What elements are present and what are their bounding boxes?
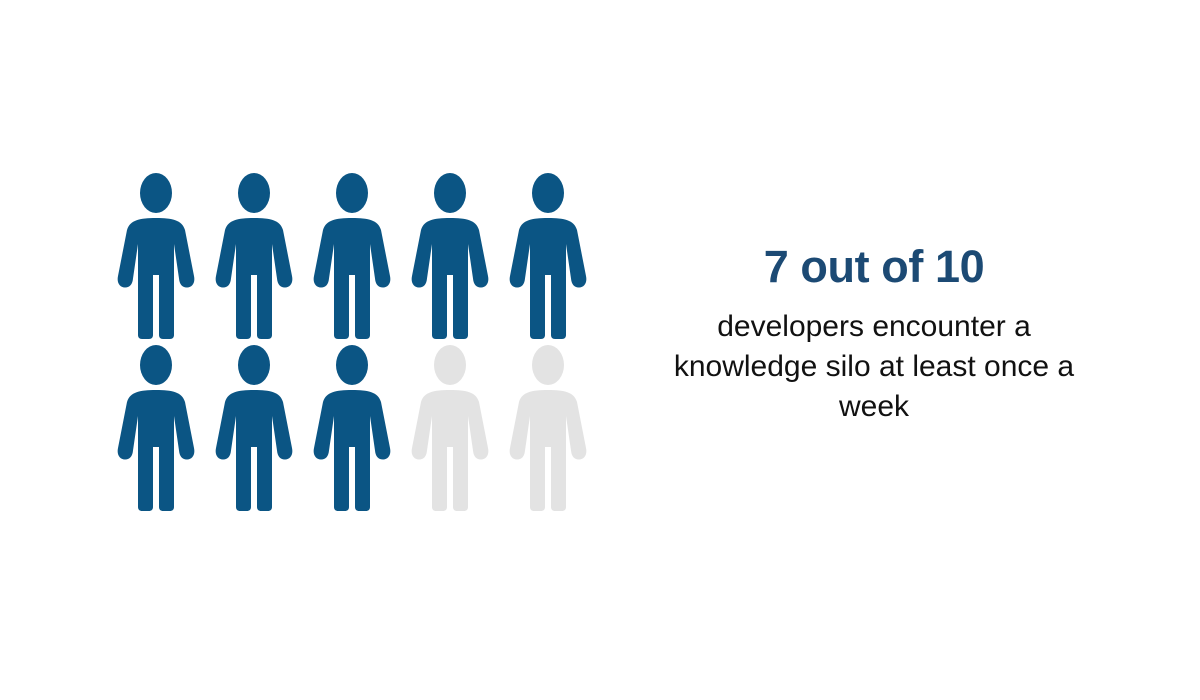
pictogram-unit-9 [406,344,504,516]
statistic-description: developers encounter a knowledge silo at… [648,307,1100,428]
person-icon [406,172,494,339]
pictogram-row-1 [112,172,612,344]
person-icon [112,172,200,339]
person-icon [504,344,592,511]
pictogram-unit-1 [112,172,210,344]
person-icon [406,344,494,511]
pictogram-unit-3 [308,172,406,344]
pictogram-unit-5 [504,172,602,344]
pictogram-row-2 [112,344,612,516]
statistic-headline: 7 out of 10 [648,244,1100,291]
pictogram-unit-8 [308,344,406,516]
infographic-canvas: 7 out of 10 developers encounter a knowl… [0,0,1200,700]
person-icon [308,172,396,339]
pictogram-chart [112,172,612,528]
person-icon [210,344,298,511]
person-icon [112,344,200,511]
pictogram-unit-2 [210,172,308,344]
pictogram-unit-6 [112,344,210,516]
person-icon [308,344,396,511]
pictogram-unit-10 [504,344,602,516]
person-icon [210,172,298,339]
pictogram-unit-7 [210,344,308,516]
pictogram-unit-4 [406,172,504,344]
person-icon [504,172,592,339]
statistic-text-block: 7 out of 10 developers encounter a knowl… [648,244,1100,427]
